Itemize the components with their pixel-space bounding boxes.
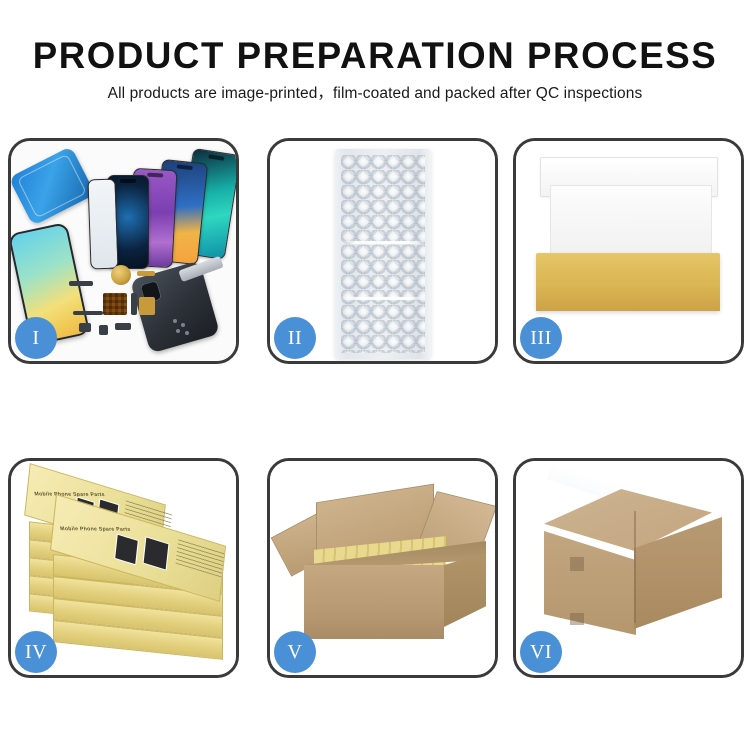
flex-part-icon bbox=[69, 281, 93, 286]
kraft-box-front-flap bbox=[536, 281, 720, 311]
step-badge-1: I bbox=[15, 317, 57, 359]
notch-icon bbox=[147, 173, 163, 178]
step-panel-5[interactable]: V bbox=[267, 458, 498, 678]
sensor-part-icon bbox=[115, 323, 131, 330]
step-panel-3[interactable]: III bbox=[513, 138, 744, 364]
box-spec-lines bbox=[176, 538, 225, 577]
screws-group-icon bbox=[173, 319, 191, 337]
phone-fan-group bbox=[89, 147, 236, 267]
notch-icon bbox=[177, 164, 193, 170]
gold-flex-icon bbox=[137, 271, 155, 276]
step-badge-5: V bbox=[274, 631, 316, 673]
carton-seam-mark bbox=[570, 557, 584, 571]
carton-front-face bbox=[304, 565, 444, 639]
step-panel-4[interactable]: Mobile Phone Spare Parts Mobile Phone Sp… bbox=[8, 458, 239, 678]
page-header: PRODUCT PREPARATION PROCESS All products… bbox=[0, 0, 750, 128]
notch-icon bbox=[120, 179, 136, 183]
step-panel-1[interactable]: I bbox=[8, 138, 239, 364]
button-part-icon bbox=[99, 325, 108, 335]
camera-part-icon bbox=[79, 323, 91, 332]
screen-glass-icon bbox=[87, 179, 118, 270]
page-subtitle: All products are image-printed，film-coat… bbox=[0, 84, 750, 104]
step-badge-3: III bbox=[520, 317, 562, 359]
box-label-text: Mobile Phone Spare Parts bbox=[60, 526, 131, 533]
page-title: PRODUCT PREPARATION PROCESS bbox=[4, 34, 747, 78]
screw-icon bbox=[176, 329, 180, 333]
screw-icon bbox=[185, 331, 189, 335]
process-steps-grid: I II III bbox=[8, 138, 744, 678]
box-label-text: Mobile Phone Spare Parts bbox=[34, 491, 105, 498]
carton-side-face bbox=[444, 553, 486, 627]
speaker-part-icon bbox=[111, 265, 131, 285]
step-badge-2: II bbox=[274, 317, 316, 359]
white-box-lid-inner bbox=[550, 185, 712, 259]
chip-part-icon bbox=[103, 293, 127, 315]
step-panel-6[interactable]: VI bbox=[513, 458, 744, 678]
gold-cable-icon bbox=[139, 297, 155, 315]
spare-parts-cluster bbox=[69, 267, 189, 345]
box-artwork-screen bbox=[143, 536, 170, 570]
notch-icon bbox=[208, 154, 224, 160]
step-badge-6: VI bbox=[520, 631, 562, 673]
box-artwork-screen bbox=[114, 534, 139, 566]
ribbon-part-icon bbox=[131, 293, 137, 315]
connector-part-icon bbox=[73, 311, 103, 315]
blue-film-phone-icon bbox=[11, 146, 95, 226]
screw-icon bbox=[173, 319, 177, 323]
bubble-crease-line bbox=[339, 297, 427, 300]
carton-seam-mark bbox=[570, 613, 584, 625]
step-panel-2[interactable]: II bbox=[267, 138, 498, 364]
carton-edge-line bbox=[634, 511, 636, 623]
box-stack-group: Mobile Phone Spare Parts Mobile Phone Sp… bbox=[23, 471, 229, 667]
bubble-texture-outline bbox=[341, 155, 425, 353]
step-badge-4: IV bbox=[15, 631, 57, 673]
bubble-crease-line bbox=[339, 241, 427, 244]
screw-icon bbox=[181, 323, 185, 327]
bubble-wrap-sheet bbox=[335, 149, 431, 359]
